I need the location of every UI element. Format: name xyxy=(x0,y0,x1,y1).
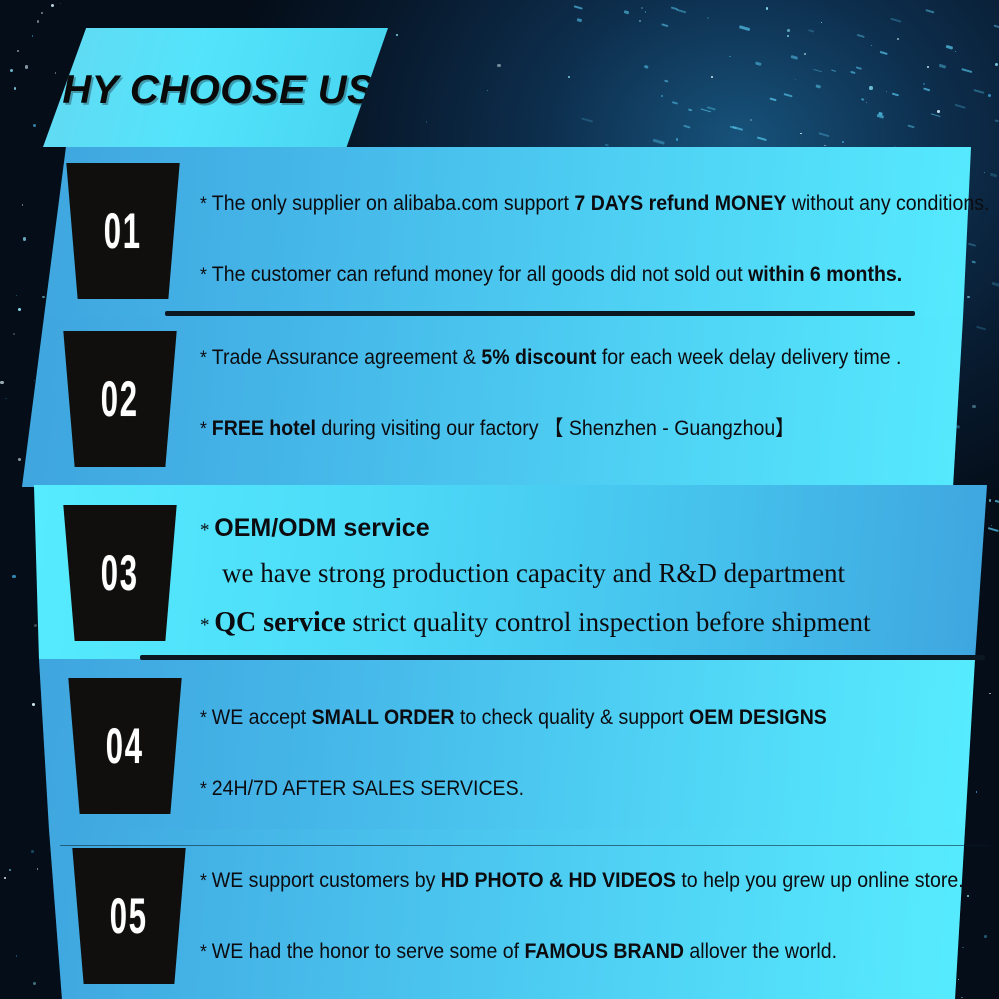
star-streak xyxy=(672,101,678,104)
star-streak xyxy=(961,68,972,73)
emphasis-text: within 6 months. xyxy=(748,263,902,286)
badge-number: 02 xyxy=(101,374,139,424)
bullet-star-icon: * xyxy=(200,194,212,215)
badge-01: 01 xyxy=(60,163,186,299)
star-streak xyxy=(581,117,593,122)
emphasis-text: 5% discount xyxy=(481,346,596,369)
star-streak xyxy=(739,25,750,30)
body-text: allover the world. xyxy=(684,940,837,963)
bullet-line: * FREE hotel during visiting our factory… xyxy=(200,418,901,439)
body-text: we have strong production capacity and R… xyxy=(222,558,845,588)
star-streak xyxy=(923,88,930,92)
emphasis-text: OEM/ODM service xyxy=(214,514,429,542)
bullet-line: we have strong production capacity and R… xyxy=(200,560,871,587)
star-streak xyxy=(946,45,953,49)
star-streak xyxy=(664,79,668,82)
body-text: to check quality & support xyxy=(455,706,689,729)
bullet-line: * OEM/ODM service xyxy=(200,515,871,541)
bullet-line: * The customer can refund money for all … xyxy=(200,264,989,285)
body-text: The customer can refund money for all go… xyxy=(212,263,748,286)
bullet-star-icon: * xyxy=(200,708,212,729)
badge-04: 04 xyxy=(62,678,188,814)
row-text-04: * WE accept SMALL ORDER to check quality… xyxy=(200,707,874,799)
star-streak xyxy=(790,55,798,60)
bullet-line: * The only supplier on alibaba.com suppo… xyxy=(200,193,989,214)
star-streak xyxy=(816,84,822,88)
body-text: without any conditions. xyxy=(786,192,989,215)
bullet-line: * 24H/7D AFTER SALES SERVICES. xyxy=(200,778,827,799)
bullet-line: * Trade Assurance agreement & 5% discoun… xyxy=(200,347,901,368)
star-streak xyxy=(818,132,829,137)
star-streak xyxy=(770,98,777,102)
star-streak xyxy=(908,124,915,128)
emphasis-text: FAMOUS BRAND xyxy=(524,940,683,963)
star-streak xyxy=(729,125,736,129)
body-text: during visiting our factory 【 Shenzhen -… xyxy=(316,417,795,440)
bullet-star-icon: * xyxy=(200,520,214,541)
bullet-line: * WE accept SMALL ORDER to check quality… xyxy=(200,707,827,728)
star-streak xyxy=(891,18,902,22)
star-streak xyxy=(995,120,999,123)
row-text-03: * OEM/ODM servicewe have strong producti… xyxy=(200,515,871,637)
star-streak xyxy=(925,10,934,14)
row-text-05: * WE support customers by HD PHOTO & HD … xyxy=(200,870,999,962)
star-streak xyxy=(757,137,767,141)
badge-number: 01 xyxy=(104,206,142,256)
emphasis-text: SMALL ORDER xyxy=(312,706,455,729)
star-streak xyxy=(676,8,686,13)
body-text: Trade Assurance agreement & xyxy=(212,346,482,369)
divider-rule xyxy=(140,655,985,660)
bullet-line: * WE had the honor to serve some of FAMO… xyxy=(200,941,964,962)
emphasis-text: 7 DAYS refund MONEY xyxy=(574,192,786,215)
body-text: The only supplier on alibaba.com support xyxy=(212,192,575,215)
body-text: for each week delay delivery time . xyxy=(596,346,901,369)
star-streak xyxy=(931,113,941,117)
star-streak xyxy=(755,62,761,66)
badge-number: 03 xyxy=(101,548,139,598)
body-text: to help you grew up online store. xyxy=(676,869,964,892)
title-banner: WHY CHOOSE US ? xyxy=(43,28,388,147)
star-streak xyxy=(892,92,899,96)
row-text-01: * The only supplier on alibaba.com suppo… xyxy=(200,193,999,285)
divider-rule xyxy=(165,311,915,316)
star-streak xyxy=(831,69,836,72)
star-streak xyxy=(573,5,582,9)
bullet-star-icon: * xyxy=(200,942,212,963)
star-streak xyxy=(783,94,792,98)
body-text: WE support customers by xyxy=(212,869,441,892)
star-streak xyxy=(955,104,966,109)
row-text-02: * Trade Assurance agreement & 5% discoun… xyxy=(200,347,954,439)
star-streak xyxy=(683,124,690,128)
body-text: WE had the honor to serve some of xyxy=(212,940,525,963)
badge-05: 05 xyxy=(66,848,192,984)
star-streak xyxy=(661,23,668,26)
star-streak xyxy=(880,51,888,55)
star-streak xyxy=(688,108,692,111)
star-streak xyxy=(813,69,822,73)
emphasis-text: HD PHOTO & HD VIDEOS xyxy=(441,869,676,892)
star-streak xyxy=(808,29,814,33)
star-streak xyxy=(851,71,856,74)
star-streak xyxy=(876,114,883,118)
badge-03: 03 xyxy=(57,505,183,641)
star-streak xyxy=(994,25,999,29)
emphasis-text: QC service xyxy=(214,607,345,638)
body-text: 24H/7D AFTER SALES SERVICES. xyxy=(212,777,524,800)
star-streak xyxy=(644,65,649,69)
bullet-star-icon: * xyxy=(200,871,212,892)
emphasis-text: OEM DESIGNS xyxy=(689,706,827,729)
bullet-star-icon: * xyxy=(200,348,212,369)
badge-number: 04 xyxy=(106,721,144,771)
star-streak xyxy=(856,34,864,38)
star-streak xyxy=(653,139,665,145)
page-title: WHY CHOOSE US ? xyxy=(24,68,411,113)
divider-rule xyxy=(60,845,990,846)
star-streak xyxy=(624,10,629,14)
star-streak xyxy=(577,18,582,22)
star-streak xyxy=(856,67,863,71)
bullet-star-icon: * xyxy=(200,615,214,636)
bullet-line: * QC service strict quality control insp… xyxy=(200,609,871,637)
why-choose-us-banner: WHY CHOOSE US ? 01 02 03 04 05 * The onl… xyxy=(0,0,999,999)
body-text: WE accept xyxy=(212,706,312,729)
star-streak xyxy=(938,64,945,68)
bullet-star-icon: * xyxy=(200,779,212,800)
body-text: strict quality control inspection before… xyxy=(346,607,871,637)
bullet-star-icon: * xyxy=(200,419,212,440)
star-streak xyxy=(707,106,716,110)
badge-02: 02 xyxy=(57,331,183,467)
badge-number: 05 xyxy=(110,891,148,941)
emphasis-text: FREE hotel xyxy=(212,417,316,440)
bullet-star-icon: * xyxy=(200,265,212,286)
star-streak xyxy=(974,89,985,94)
star-streak xyxy=(861,98,865,100)
bullet-line: * WE support customers by HD PHOTO & HD … xyxy=(200,870,964,891)
